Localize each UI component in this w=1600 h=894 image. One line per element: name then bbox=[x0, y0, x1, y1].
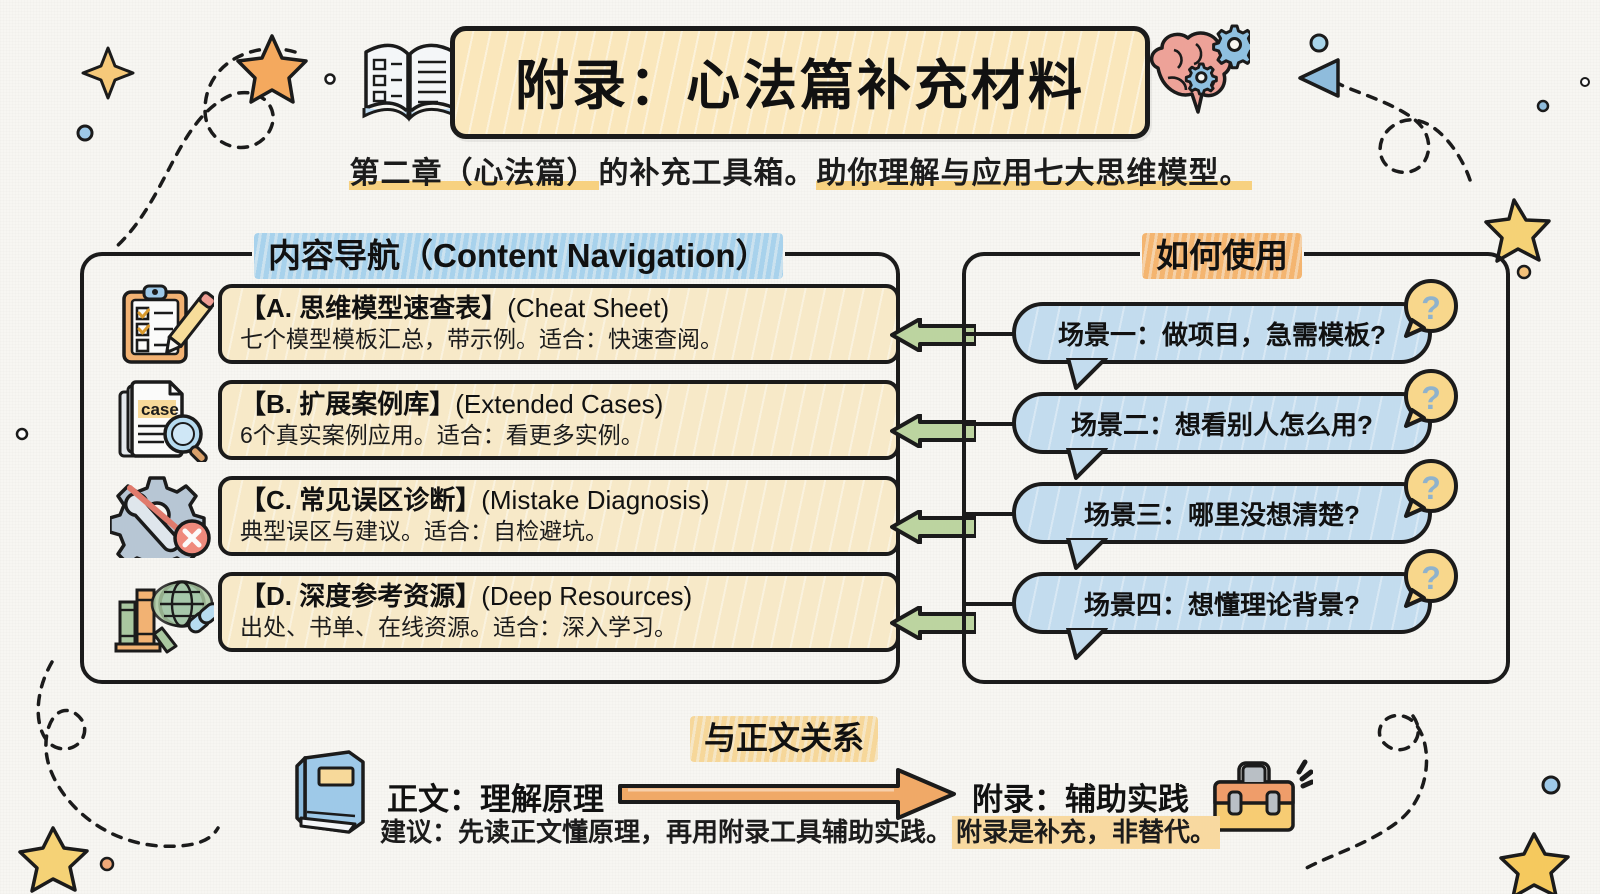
speech-bubble-text: 场景一：做项目，急需模板? bbox=[1058, 315, 1386, 352]
subtitle-part-2: 的补充工具箱。 bbox=[599, 157, 816, 190]
usage-panel-header: 如何使用 bbox=[1140, 226, 1304, 283]
question-mark-badge: ? bbox=[1400, 458, 1462, 520]
subtitle: 第二章（心法篇）的补充工具箱。助你理解与应用七大思维模型。 bbox=[0, 148, 1600, 192]
nav-card-a[interactable]: 【A. 思维模型速查表】(Cheat Sheet) 七个模型模板汇总，带示例。适… bbox=[218, 284, 900, 364]
nav-card-title-en: (Extended Cases) bbox=[455, 389, 663, 419]
bubble-connector-line bbox=[964, 332, 1014, 336]
list-item[interactable]: case 【B. 扩展案例库】(Extended Cases) 6个真实案例应用… bbox=[110, 378, 900, 462]
advice-highlight: 附录是补充，非替代。 bbox=[952, 816, 1220, 849]
nav-card-title-en: (Deep Resources) bbox=[481, 581, 692, 611]
question-mark-badge: ? bbox=[1400, 368, 1462, 430]
svg-text:?: ? bbox=[1421, 470, 1441, 506]
nav-card-desc: 七个模型模板汇总，带示例。适合：快速查阅。 bbox=[240, 325, 882, 353]
question-mark-badge: ? bbox=[1400, 548, 1462, 610]
content-navigation-header: 内容导航（Content Navigation） bbox=[252, 226, 785, 283]
subtitle-part-3: 助你理解与应用七大思维模型。 bbox=[816, 157, 1252, 190]
nav-card-title-cn: 【C. 常见误区诊断】 bbox=[240, 485, 481, 515]
content-navigation-header-label: 内容导航（Content Navigation） bbox=[268, 237, 769, 274]
nav-card-b[interactable]: 【B. 扩展案例库】(Extended Cases) 6个真实案例应用。适合：看… bbox=[218, 380, 900, 460]
usage-bubble-list: 场景一：做项目，急需模板? ? 场景二：想看别人怎么用? bbox=[1012, 296, 1482, 656]
nav-card-title-cn: 【B. 扩展案例库】 bbox=[240, 389, 455, 419]
usage-panel-header-label: 如何使用 bbox=[1156, 237, 1288, 274]
svg-text:case: case bbox=[141, 400, 179, 419]
nav-card-c[interactable]: 【C. 常见误区诊断】(Mistake Diagnosis) 典型误区与建议。适… bbox=[218, 476, 900, 556]
speech-bubble-text: 场景三：哪里没想清楚? bbox=[1084, 495, 1360, 532]
brain-gears-icon bbox=[1138, 20, 1250, 125]
list-item[interactable]: 【A. 思维模型速查表】(Cheat Sheet) 七个模型模板汇总，带示例。适… bbox=[110, 282, 900, 366]
bubble-tail-icon bbox=[1064, 628, 1110, 662]
gear-wrench-error-icon bbox=[110, 474, 214, 558]
relation-header: 与正文关系 bbox=[690, 710, 878, 765]
speech-bubble-3[interactable]: 场景三：哪里没想清楚? bbox=[1012, 482, 1432, 544]
books-globe-link-icon bbox=[110, 570, 214, 654]
nav-card-title: 【B. 扩展案例库】(Extended Cases) bbox=[240, 389, 882, 421]
svg-text:?: ? bbox=[1421, 380, 1441, 416]
navigation-item-list: 【A. 思维模型速查表】(Cheat Sheet) 七个模型模板汇总，带示例。适… bbox=[110, 282, 900, 666]
speech-bubble-text: 场景四：想懂理论背景? bbox=[1084, 585, 1360, 622]
bubble-row[interactable]: 场景四：想懂理论背景? ? bbox=[1012, 566, 1482, 656]
svg-text:?: ? bbox=[1421, 290, 1441, 326]
list-item[interactable]: 【C. 常见误区诊断】(Mistake Diagnosis) 典型误区与建议。适… bbox=[110, 474, 900, 558]
open-book-icon bbox=[358, 30, 462, 127]
nav-card-title: 【A. 思维模型速查表】(Cheat Sheet) bbox=[240, 293, 882, 325]
svg-text:?: ? bbox=[1421, 560, 1441, 596]
speech-bubble-4[interactable]: 场景四：想懂理论背景? bbox=[1012, 572, 1432, 634]
title-row: 附录：心法篇补充材料 bbox=[0, 26, 1600, 139]
nav-card-title-cn: 【D. 深度参考资源】 bbox=[240, 581, 481, 611]
relation-header-label: 与正文关系 bbox=[704, 720, 864, 756]
nav-card-title-cn: 【A. 思维模型速查表】 bbox=[240, 293, 507, 323]
nav-card-title: 【C. 常见误区诊断】(Mistake Diagnosis) bbox=[240, 485, 882, 517]
speech-bubble-text: 场景二：想看别人怎么用? bbox=[1071, 405, 1373, 442]
advice-prefix: 建议：先读正文懂原理，再用附录工具辅助实践。 bbox=[380, 817, 952, 847]
list-item[interactable]: 【D. 深度参考资源】(Deep Resources) 出处、书单、在线资源。适… bbox=[110, 570, 900, 654]
nav-card-desc: 出处、书单、在线资源。适合：深入学习。 bbox=[240, 613, 882, 641]
clipboard-checklist-pencil-icon bbox=[110, 282, 214, 366]
nav-card-title-en: (Cheat Sheet) bbox=[507, 293, 669, 323]
subtitle-part-1: 第二章（心法篇） bbox=[349, 157, 599, 190]
title-banner: 附录：心法篇补充材料 bbox=[450, 26, 1150, 139]
bubble-connector-line bbox=[964, 422, 1014, 426]
bubble-connector-line bbox=[964, 512, 1014, 516]
speech-bubble-1[interactable]: 场景一：做项目，急需模板? bbox=[1012, 302, 1432, 364]
case-documents-magnifier-icon: case bbox=[110, 378, 214, 462]
nav-card-title-en: (Mistake Diagnosis) bbox=[481, 485, 709, 515]
speech-bubble-2[interactable]: 场景二：想看别人怎么用? bbox=[1012, 392, 1432, 454]
page-title: 附录：心法篇补充材料 bbox=[499, 41, 1101, 120]
bubble-connector-line bbox=[964, 602, 1014, 606]
question-mark-badge: ? bbox=[1400, 278, 1462, 340]
nav-card-d[interactable]: 【D. 深度参考资源】(Deep Resources) 出处、书单、在线资源。适… bbox=[218, 572, 900, 652]
nav-card-desc: 典型误区与建议。适合：自检避坑。 bbox=[240, 517, 882, 545]
nav-card-desc: 6个真实案例应用。适合：看更多实例。 bbox=[240, 421, 882, 449]
relation-advice: 建议：先读正文懂原理，再用附录工具辅助实践。附录是补充，非替代。 bbox=[0, 812, 1600, 849]
nav-card-title: 【D. 深度参考资源】(Deep Resources) bbox=[240, 581, 882, 613]
